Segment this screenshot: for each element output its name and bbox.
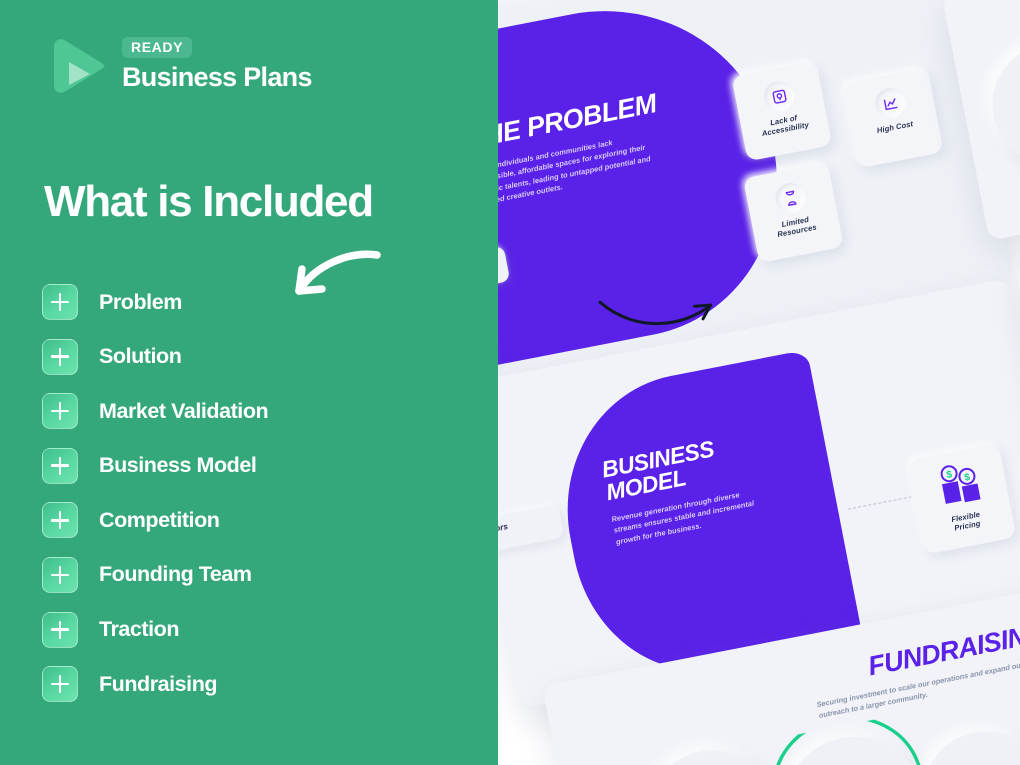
hourglass-icon [773,180,808,215]
play-triangle-icon [46,35,108,97]
list-item[interactable]: Traction [42,610,462,650]
brand-title: Business Plans [122,63,312,91]
pill-label: Monthly Visitors [498,521,509,543]
list-item[interactable]: Business Model [42,446,462,486]
plus-icon [42,284,78,320]
list-item-label: Traction [99,617,179,642]
list-item[interactable]: Solution [42,337,462,377]
tile-label: FlexiblePricing [920,504,1014,540]
left-info-panel: READY Business Plans What is Included Pr… [0,0,498,765]
list-item-label: Founding Team [99,562,252,587]
brand-block: READY Business Plans [46,33,312,97]
plus-icon [42,557,78,593]
tile-label: High Cost [852,115,938,141]
plus-icon [42,448,78,484]
list-item-label: Fundraising [99,672,217,697]
list-item[interactable]: Founding Team [42,555,462,595]
list-item[interactable]: Market Validation [42,391,462,431]
tile-label: LimitedResources [752,209,840,244]
plus-icon [42,612,78,648]
svg-text:$: $ [946,469,954,481]
money-bars-icon: $ $ [934,459,986,514]
tile-flexible-pricing[interactable]: $ $ FlexiblePricing [908,443,1017,555]
list-item-label: Problem [99,290,182,315]
slide-deck: THE PROBLEM Many individuals and communi… [498,0,1020,765]
ready-badge: READY [122,37,192,58]
poster-stage: THE PROBLEM Many individuals and communi… [0,0,1020,765]
plus-icon [42,666,78,702]
plus-icon [42,339,78,375]
chart-line-icon [873,86,908,121]
list-item-label: Solution [99,344,181,369]
tile-lack-of-accessibility[interactable]: Lack ofAccessibility [731,61,832,162]
page-title: What is Included [44,180,373,224]
list-item-label: Competition [99,508,219,533]
brand-text: READY Business Plans [122,33,312,91]
list-item[interactable]: Fundraising [42,664,462,704]
tile-high-cost[interactable]: High Cost [843,67,944,168]
slide-preview-panel: THE PROBLEM Many individuals and communi… [498,0,1020,765]
list-item[interactable]: Competition [42,500,462,540]
list-item[interactable]: Problem [42,282,462,322]
tile-label: Lack ofAccessibility [741,108,829,143]
list-item-label: Business Model [99,453,256,478]
tile-limited-resources[interactable]: LimitedResources [743,162,844,263]
lock-icon [761,79,796,114]
plus-icon [42,502,78,538]
svg-text:$: $ [963,472,971,484]
included-list: Problem Solution Market Validation Busin… [42,282,462,719]
plus-icon [42,393,78,429]
list-item-label: Market Validation [99,399,268,424]
